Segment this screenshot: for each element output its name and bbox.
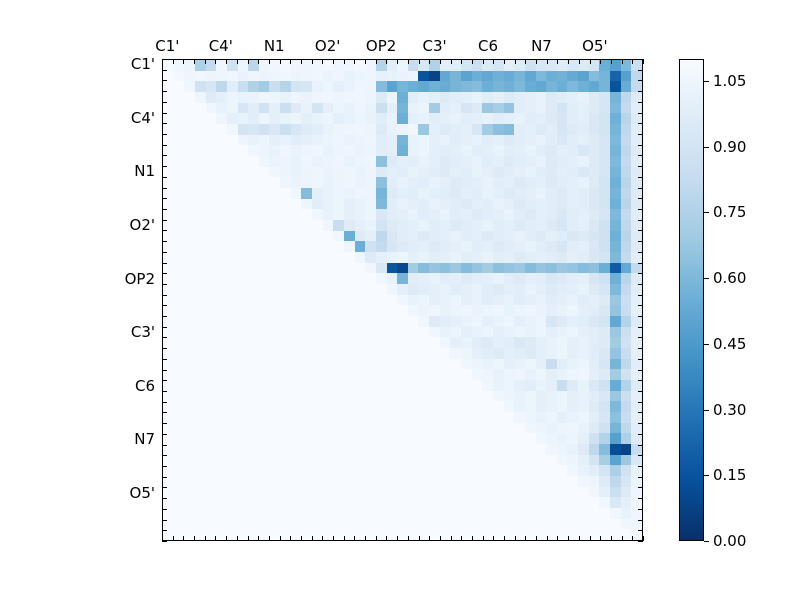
heatmap-cell — [269, 369, 280, 380]
heatmap-cell — [450, 337, 461, 348]
heatmap-cell — [312, 487, 323, 498]
heatmap-cell — [248, 305, 259, 316]
heatmap-cell — [355, 476, 366, 487]
heatmap-cell — [376, 209, 387, 220]
heatmap-cell — [589, 241, 600, 252]
heatmap-cell — [269, 401, 280, 412]
colorbar-tick-label: 0.75 — [713, 203, 746, 221]
heatmap-cell — [206, 295, 217, 306]
y-tick-left — [162, 198, 167, 199]
heatmap-cell — [482, 327, 493, 338]
heatmap-cell — [493, 295, 504, 306]
y-tick-left — [162, 337, 167, 338]
heatmap-cell — [174, 359, 185, 370]
y-tick-left — [162, 327, 167, 328]
x-tick-bottom — [312, 536, 313, 541]
heatmap-cell — [355, 241, 366, 252]
heatmap-cell — [195, 369, 206, 380]
y-tick-right — [638, 295, 643, 296]
x-tick-top — [493, 59, 494, 64]
heatmap-cell — [355, 412, 366, 423]
heatmap-cell — [493, 113, 504, 124]
heatmap-cell — [280, 188, 291, 199]
heatmap-cell — [397, 145, 408, 156]
heatmap-cell — [493, 273, 504, 284]
heatmap-cell — [578, 113, 589, 124]
heatmap-cell — [461, 81, 472, 92]
heatmap-cell — [333, 156, 344, 167]
heatmap-cell — [567, 263, 578, 274]
heatmap-cell — [461, 231, 472, 242]
heatmap-cell — [174, 284, 185, 295]
heatmap-cell — [461, 177, 472, 188]
heatmap-cell — [440, 103, 451, 114]
heatmap-cell — [387, 241, 398, 252]
heatmap-cell — [216, 177, 227, 188]
heatmap-cell — [301, 81, 312, 92]
heatmap-cell — [301, 337, 312, 348]
heatmap-cell — [567, 423, 578, 434]
heatmap-cell — [621, 369, 632, 380]
heatmap-cell — [301, 177, 312, 188]
heatmap-cell — [312, 519, 323, 530]
heatmap-cell — [525, 71, 536, 82]
heatmap-cell — [536, 444, 547, 455]
heatmap-cell — [163, 327, 174, 338]
heatmap-cell — [482, 433, 493, 444]
heatmap-cell — [408, 348, 419, 359]
heatmap-cell — [365, 177, 376, 188]
heatmap-cell — [333, 135, 344, 146]
heatmap-cell — [482, 252, 493, 263]
heatmap-cell — [461, 284, 472, 295]
colorbar-tick — [704, 410, 709, 411]
heatmap-cell — [365, 433, 376, 444]
heatmap-cell — [301, 359, 312, 370]
heatmap-cell — [216, 391, 227, 402]
heatmap-cell — [429, 487, 440, 498]
heatmap-cell — [440, 391, 451, 402]
heatmap-cell — [248, 423, 259, 434]
y-tick-label: O2' — [130, 216, 155, 234]
heatmap-cell — [536, 519, 547, 530]
heatmap-cell — [418, 327, 429, 338]
x-tick-label: C1' — [155, 37, 179, 55]
heatmap-cell — [557, 241, 568, 252]
heatmap-cell — [323, 241, 334, 252]
heatmap-cell — [387, 71, 398, 82]
heatmap-cell — [387, 145, 398, 156]
heatmap-cell — [493, 359, 504, 370]
heatmap-cell — [589, 263, 600, 274]
heatmap-cell — [631, 263, 642, 274]
heatmap-cell — [557, 209, 568, 220]
heatmap-cell — [429, 369, 440, 380]
heatmap-cell — [195, 380, 206, 391]
heatmap-cell — [493, 81, 504, 92]
heatmap-cell — [450, 476, 461, 487]
heatmap-cell — [429, 316, 440, 327]
heatmap-cell — [589, 167, 600, 178]
heatmap-cell — [269, 284, 280, 295]
heatmap-cell — [578, 241, 589, 252]
y-tick-left — [162, 412, 167, 413]
heatmap-cell — [493, 327, 504, 338]
heatmap-cell — [323, 124, 334, 135]
heatmap-cell — [418, 113, 429, 124]
heatmap-cell — [450, 444, 461, 455]
x-tick-top — [237, 59, 238, 64]
x-tick-bottom — [451, 536, 452, 541]
heatmap-cell — [184, 348, 195, 359]
heatmap-cell — [482, 295, 493, 306]
heatmap-cell — [323, 497, 334, 508]
heatmap-cell — [546, 327, 557, 338]
heatmap-cell — [525, 444, 536, 455]
heatmap-cell — [227, 455, 238, 466]
heatmap-cell — [163, 167, 174, 178]
heatmap-cell — [291, 199, 302, 210]
heatmap-cell — [397, 348, 408, 359]
heatmap-cell — [461, 241, 472, 252]
heatmap-cell — [567, 337, 578, 348]
heatmap-cell — [429, 273, 440, 284]
heatmap-cell — [216, 380, 227, 391]
heatmap-cell — [387, 529, 398, 540]
heatmap-cell — [599, 113, 610, 124]
heatmap-cell — [589, 476, 600, 487]
heatmap-cell — [472, 60, 483, 71]
heatmap-cell — [610, 359, 621, 370]
heatmap-cell — [248, 71, 259, 82]
heatmap-cell — [355, 156, 366, 167]
heatmap-cell — [472, 177, 483, 188]
heatmap-cell — [589, 508, 600, 519]
heatmap-cell — [514, 60, 525, 71]
heatmap-cell — [493, 337, 504, 348]
heatmap-cell — [355, 519, 366, 530]
heatmap-cell — [269, 359, 280, 370]
heatmap-cell — [589, 369, 600, 380]
heatmap-cell — [291, 81, 302, 92]
heatmap-cell — [546, 188, 557, 199]
heatmap-cell — [557, 487, 568, 498]
heatmap-cell — [599, 487, 610, 498]
heatmap-cell — [376, 273, 387, 284]
heatmap-cell — [578, 444, 589, 455]
heatmap-cell — [216, 337, 227, 348]
heatmap-cell — [387, 284, 398, 295]
heatmap-cell — [493, 241, 504, 252]
heatmap-cell — [344, 487, 355, 498]
y-tick-right — [638, 91, 643, 92]
heatmap-cell — [461, 124, 472, 135]
heatmap-cell — [248, 391, 259, 402]
heatmap-cell — [333, 252, 344, 263]
heatmap-cell — [610, 519, 621, 530]
heatmap-cell — [557, 145, 568, 156]
heatmap-cell — [376, 284, 387, 295]
heatmap-cell — [546, 391, 557, 402]
x-tick-label: C4' — [209, 37, 233, 55]
heatmap-cell — [206, 487, 217, 498]
heatmap-cell — [493, 519, 504, 530]
heatmap-cell — [301, 188, 312, 199]
heatmap-cell — [184, 487, 195, 498]
heatmap-cell — [536, 348, 547, 359]
heatmap-cell — [301, 103, 312, 114]
y-tick-left — [162, 230, 167, 231]
heatmap-cell — [227, 113, 238, 124]
heatmap-cell — [504, 348, 515, 359]
heatmap-cell — [450, 380, 461, 391]
heatmap-cell — [216, 508, 227, 519]
heatmap-cell — [418, 71, 429, 82]
heatmap-cell — [525, 455, 536, 466]
heatmap-cell — [504, 81, 515, 92]
heatmap-cell — [376, 337, 387, 348]
heatmap-cell — [333, 380, 344, 391]
heatmap-cell — [248, 348, 259, 359]
heatmap-cell — [365, 295, 376, 306]
heatmap-cell — [589, 391, 600, 402]
heatmap-cell — [312, 444, 323, 455]
heatmap-cell — [174, 156, 185, 167]
heatmap-cell — [206, 305, 217, 316]
heatmap-cell — [482, 241, 493, 252]
heatmap-cell — [291, 113, 302, 124]
y-tick-right — [638, 316, 643, 317]
heatmap-cell — [482, 273, 493, 284]
heatmap-cell — [482, 231, 493, 242]
heatmap-cell — [450, 369, 461, 380]
heatmap-cell — [504, 124, 515, 135]
colorbar-tick — [704, 278, 709, 279]
x-tick-bottom — [226, 536, 227, 541]
heatmap-cell — [429, 508, 440, 519]
heatmap-cell — [450, 295, 461, 306]
heatmap-cell — [227, 231, 238, 242]
heatmap-cell — [174, 199, 185, 210]
heatmap-cell — [312, 433, 323, 444]
heatmap-cell — [461, 305, 472, 316]
heatmap-cell — [323, 433, 334, 444]
heatmap-cell — [514, 145, 525, 156]
x-tick-top — [483, 59, 484, 64]
x-tick-top — [397, 59, 398, 64]
heatmap-cell — [397, 316, 408, 327]
heatmap-cell — [567, 391, 578, 402]
heatmap-cell — [238, 348, 249, 359]
heatmap-cell — [333, 103, 344, 114]
heatmap-cell — [355, 401, 366, 412]
heatmap-cell — [504, 465, 515, 476]
heatmap-cell — [312, 81, 323, 92]
x-tick-label: N1 — [264, 37, 285, 55]
heatmap-cell — [557, 231, 568, 242]
x-tick-bottom — [643, 536, 644, 541]
heatmap-cell — [174, 380, 185, 391]
heatmap-cell — [333, 508, 344, 519]
heatmap-cell — [184, 209, 195, 220]
heatmap-cell — [365, 156, 376, 167]
heatmap-cell — [312, 359, 323, 370]
heatmap-cell — [259, 359, 270, 370]
heatmap-cell — [610, 92, 621, 103]
y-tick-left — [162, 252, 167, 253]
heatmap-cell — [536, 412, 547, 423]
heatmap-cell — [227, 380, 238, 391]
heatmap-cell — [259, 316, 270, 327]
heatmap-cell — [525, 529, 536, 540]
heatmap-cell — [621, 337, 632, 348]
heatmap-cell — [301, 113, 312, 124]
heatmap-cell — [610, 476, 621, 487]
heatmap-cell — [227, 465, 238, 476]
heatmap-cell — [227, 444, 238, 455]
heatmap-cell — [259, 423, 270, 434]
heatmap-cell — [259, 135, 270, 146]
y-tick-left — [162, 209, 167, 210]
heatmap-cell — [280, 295, 291, 306]
heatmap-cell — [461, 444, 472, 455]
x-tick-bottom — [622, 536, 623, 541]
heatmap-cell — [397, 103, 408, 114]
heatmap-cell — [429, 444, 440, 455]
heatmap-cell — [621, 497, 632, 508]
heatmap-cell — [557, 508, 568, 519]
heatmap-cell — [408, 92, 419, 103]
heatmap-cell — [174, 92, 185, 103]
heatmap-cell — [525, 423, 536, 434]
heatmap-cell — [429, 188, 440, 199]
heatmap-cell — [482, 145, 493, 156]
x-tick-top — [429, 59, 430, 64]
heatmap-cell — [312, 423, 323, 434]
heatmap-cell — [482, 497, 493, 508]
heatmap-cell — [333, 444, 344, 455]
heatmap-cell — [589, 209, 600, 220]
heatmap-cell — [440, 284, 451, 295]
x-tick-top — [504, 59, 505, 64]
heatmap-cell — [546, 167, 557, 178]
heatmap-cell — [567, 177, 578, 188]
heatmap-cell — [248, 476, 259, 487]
heatmap-cell — [291, 433, 302, 444]
heatmap-cell — [429, 220, 440, 231]
heatmap-cell — [269, 380, 280, 391]
heatmap-cell — [216, 81, 227, 92]
heatmap-cell — [195, 231, 206, 242]
heatmap-cell — [429, 231, 440, 242]
heatmap-cell — [482, 263, 493, 274]
heatmap-cell — [631, 220, 642, 231]
heatmap-cell — [376, 519, 387, 530]
x-tick-bottom — [280, 536, 281, 541]
heatmap-cell — [418, 145, 429, 156]
heatmap-cell — [472, 81, 483, 92]
heatmap-cell — [387, 508, 398, 519]
heatmap-cell — [440, 60, 451, 71]
heatmap-cell — [546, 145, 557, 156]
heatmap-cell — [387, 455, 398, 466]
heatmap-cell — [291, 444, 302, 455]
heatmap-cell — [163, 263, 174, 274]
heatmap-cell — [472, 487, 483, 498]
heatmap-cell — [259, 529, 270, 540]
heatmap-cell — [174, 465, 185, 476]
heatmap-cell — [482, 188, 493, 199]
y-tick-right — [638, 198, 643, 199]
heatmap-cell — [269, 337, 280, 348]
heatmap-cell — [418, 444, 429, 455]
x-tick-top — [258, 59, 259, 64]
heatmap-cell — [248, 177, 259, 188]
heatmap-cell — [312, 508, 323, 519]
heatmap-cell — [355, 199, 366, 210]
heatmap-cell — [301, 124, 312, 135]
heatmap-cell — [397, 124, 408, 135]
heatmap-cell — [450, 519, 461, 530]
heatmap-cell — [589, 401, 600, 412]
heatmap-cell — [206, 284, 217, 295]
heatmap-cell — [248, 273, 259, 284]
heatmap-cell — [216, 241, 227, 252]
heatmap-cell — [206, 273, 217, 284]
heatmap-cell — [525, 156, 536, 167]
heatmap-cell — [206, 156, 217, 167]
heatmap-cell — [429, 209, 440, 220]
heatmap-cell — [610, 295, 621, 306]
heatmap-cell — [610, 455, 621, 466]
heatmap-cell — [599, 380, 610, 391]
heatmap-cell — [333, 92, 344, 103]
heatmap-cell — [461, 487, 472, 498]
heatmap-cell — [557, 401, 568, 412]
y-tick-right — [638, 434, 643, 435]
heatmap-cell — [536, 465, 547, 476]
heatmap-cell — [514, 71, 525, 82]
colorbar-gradient — [680, 60, 703, 540]
heatmap-cell — [610, 508, 621, 519]
heatmap-cell — [440, 220, 451, 231]
y-tick-left — [162, 70, 167, 71]
y-tick-label: N7 — [134, 430, 155, 448]
heatmap-cell — [504, 337, 515, 348]
heatmap-cell — [397, 231, 408, 242]
heatmap-cell — [333, 167, 344, 178]
x-tick-top — [600, 59, 601, 64]
heatmap-cell — [259, 273, 270, 284]
x-tick-bottom — [376, 536, 377, 541]
heatmap-cell — [206, 337, 217, 348]
y-tick-label: C3' — [131, 323, 155, 341]
heatmap-cell — [387, 465, 398, 476]
heatmap-cell — [174, 433, 185, 444]
heatmap-cell — [344, 423, 355, 434]
x-tick-top — [515, 59, 516, 64]
heatmap-cell — [408, 423, 419, 434]
y-tick-right — [638, 477, 643, 478]
heatmap-cell — [450, 391, 461, 402]
heatmap-cell — [525, 284, 536, 295]
heatmap-cell — [387, 103, 398, 114]
heatmap-cell — [504, 327, 515, 338]
heatmap-cell — [546, 113, 557, 124]
heatmap-cell — [216, 316, 227, 327]
heatmap-cell — [450, 284, 461, 295]
heatmap-cell — [493, 199, 504, 210]
